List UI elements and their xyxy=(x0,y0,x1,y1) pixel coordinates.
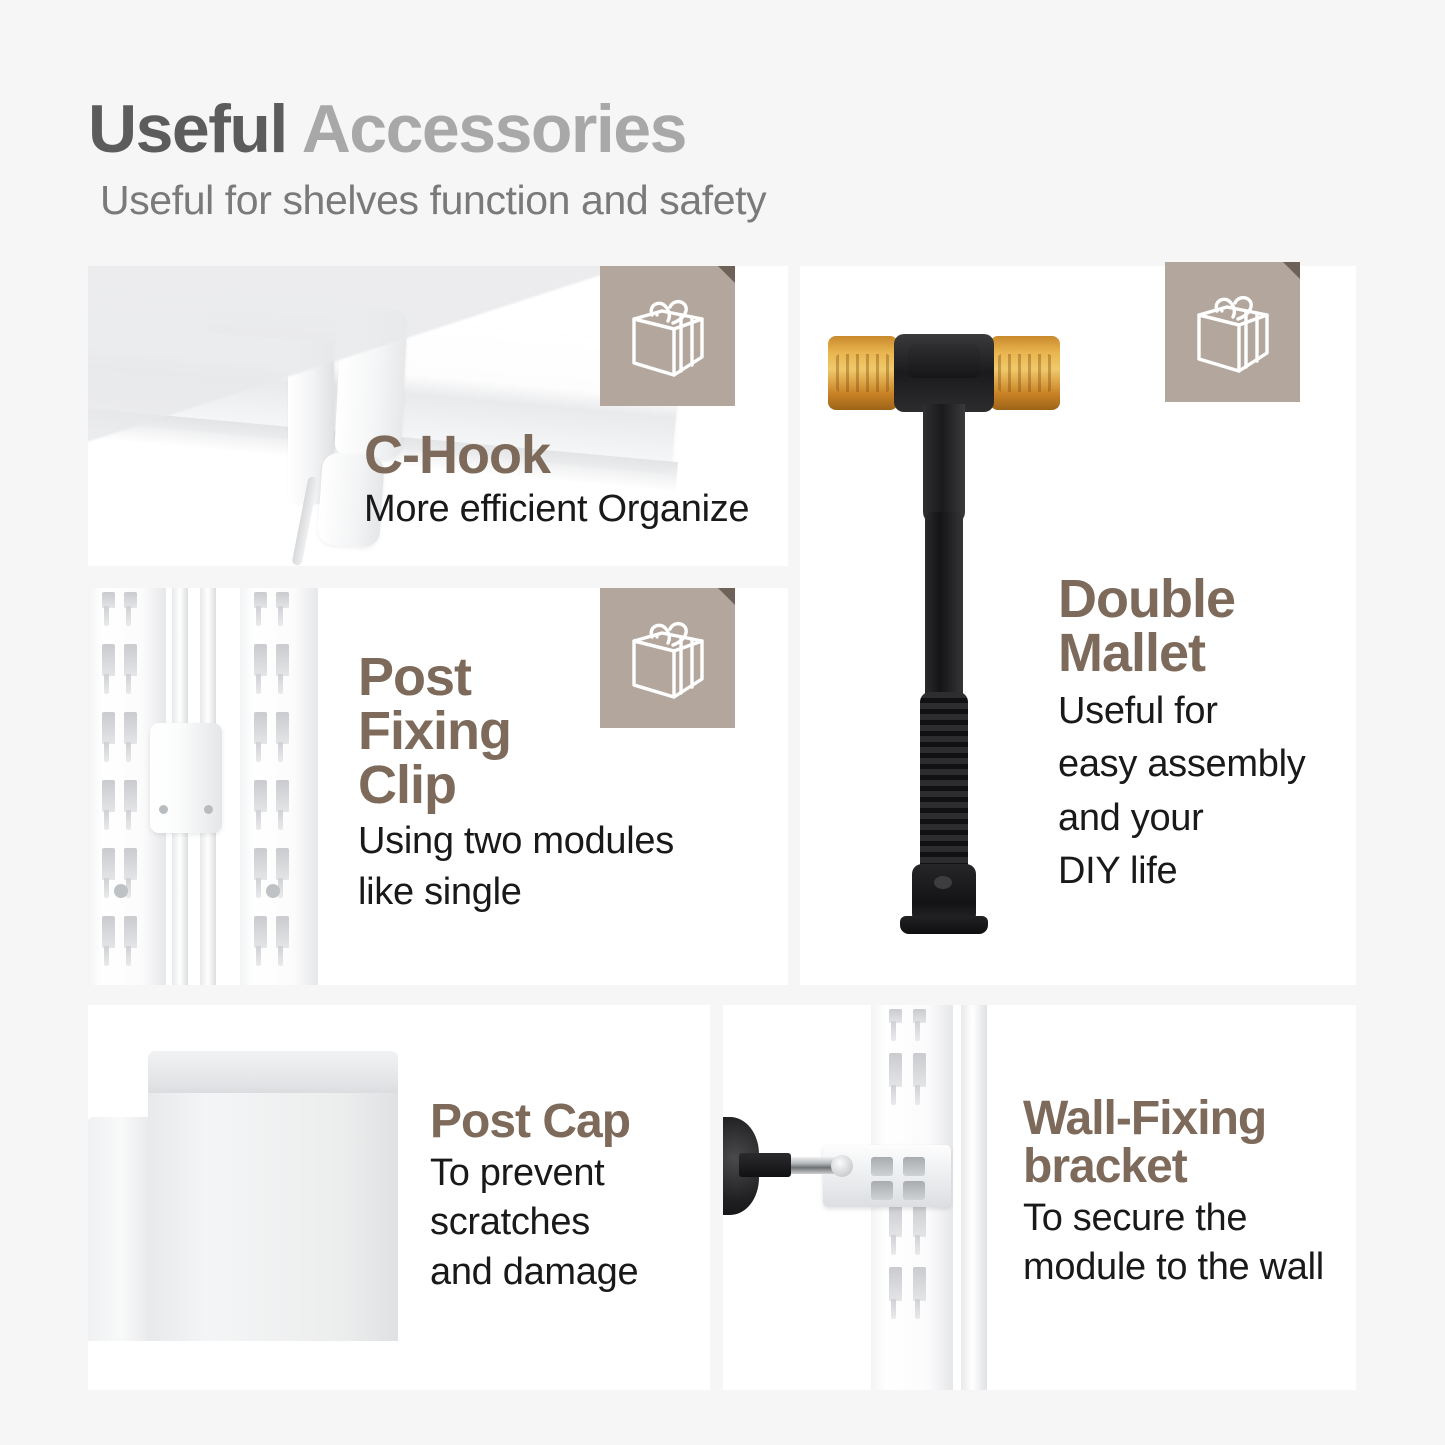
wall-fixing-bracket-description-line-2: module to the wall xyxy=(1023,1246,1324,1289)
page-header: Useful Accessories Useful for shelves fu… xyxy=(88,95,1358,223)
post-cap-description-line-3: and damage xyxy=(430,1251,638,1294)
c-hook-heading: C-Hook xyxy=(364,428,749,482)
page-title-part-soft: Accessories xyxy=(302,91,686,167)
mallet-face-right-ribs xyxy=(998,354,1052,392)
screw-nut xyxy=(831,1155,853,1177)
mallet-face-left-ribs xyxy=(836,354,890,392)
mallet-neck xyxy=(923,404,965,524)
post-cap-lid xyxy=(148,1051,398,1093)
slotted-post-right xyxy=(240,588,318,985)
post-edge-rail xyxy=(961,1005,987,1390)
post-cap-photo xyxy=(88,1005,428,1390)
mallet-head-plate xyxy=(908,344,980,378)
double-mallet-description-line-1: Useful for xyxy=(1058,690,1308,733)
wall-fixing-bracket-text-block: Wall-Fixing bracket To secure the module… xyxy=(1023,1095,1324,1290)
gift-box-icon xyxy=(1191,289,1275,375)
double-mallet-text-block: Double Mallet Useful for easy assembly a… xyxy=(1058,572,1308,893)
mallet-butt-hole xyxy=(934,876,952,889)
post-cap-adjacent-post xyxy=(88,1117,150,1341)
screwdriver-tip xyxy=(739,1153,791,1177)
gift-box-icon xyxy=(626,293,710,379)
page-subtitle: Useful for shelves function and safety xyxy=(100,178,1358,223)
post-fixing-clip-heading-line-3: Clip xyxy=(358,758,674,812)
gift-box-badge-c-hook xyxy=(600,266,735,406)
mallet-face-left xyxy=(828,336,898,410)
c-hook-text-block: C-Hook More efficient Organize xyxy=(364,428,749,531)
gift-box-badge-double-mallet xyxy=(1165,262,1300,402)
double-mallet-heading-line-1: Double xyxy=(1058,572,1308,626)
post-fixing-clip-photo xyxy=(88,588,318,985)
badge-fold-corner xyxy=(718,266,735,283)
c-hook-description-line-1: More efficient Organize xyxy=(364,488,749,531)
badge-fold-corner xyxy=(1283,262,1300,279)
mallet-butt-flare xyxy=(900,916,988,934)
double-mallet-description-line-4: DIY life xyxy=(1058,850,1308,893)
double-mallet-description-line-3: and your xyxy=(1058,797,1308,840)
post-cap-body xyxy=(148,1091,398,1341)
double-mallet-description-line-2: easy assembly xyxy=(1058,743,1308,786)
post-cap-description-line-1: To prevent xyxy=(430,1152,638,1195)
c-hook-upper-lip xyxy=(207,292,340,343)
post-cap-description-line-2: scratches xyxy=(430,1201,638,1244)
double-mallet-photo xyxy=(828,312,1058,942)
wall-fixing-bracket-photo xyxy=(723,1005,1053,1390)
double-mallet-heading-line-2: Mallet xyxy=(1058,626,1308,680)
post-cap-text-block: Post Cap To prevent scratches and damage xyxy=(430,1098,638,1294)
gift-box-icon xyxy=(626,615,710,701)
wall-fixing-bracket-description-line-1: To secure the xyxy=(1023,1197,1324,1240)
post-fixing-clip-description-line-1: Using two modules xyxy=(358,820,674,863)
mallet-face-right xyxy=(990,336,1060,410)
gift-box-badge-post-fixing-clip xyxy=(600,588,735,728)
wall-fixing-bracket-heading-line-1: Wall-Fixing xyxy=(1023,1095,1324,1143)
page-title: Useful Accessories xyxy=(88,95,1358,164)
post-fixing-clip-description-line-2: like single xyxy=(358,871,674,914)
badge-fold-corner xyxy=(718,588,735,605)
mallet-grip xyxy=(920,692,968,877)
page-title-part-strong: Useful xyxy=(88,91,302,167)
post-fixing-clip-collar xyxy=(150,723,222,833)
wall-fixing-bracket-heading-line-2: bracket xyxy=(1023,1143,1324,1191)
post-cap-heading: Post Cap xyxy=(430,1098,638,1146)
